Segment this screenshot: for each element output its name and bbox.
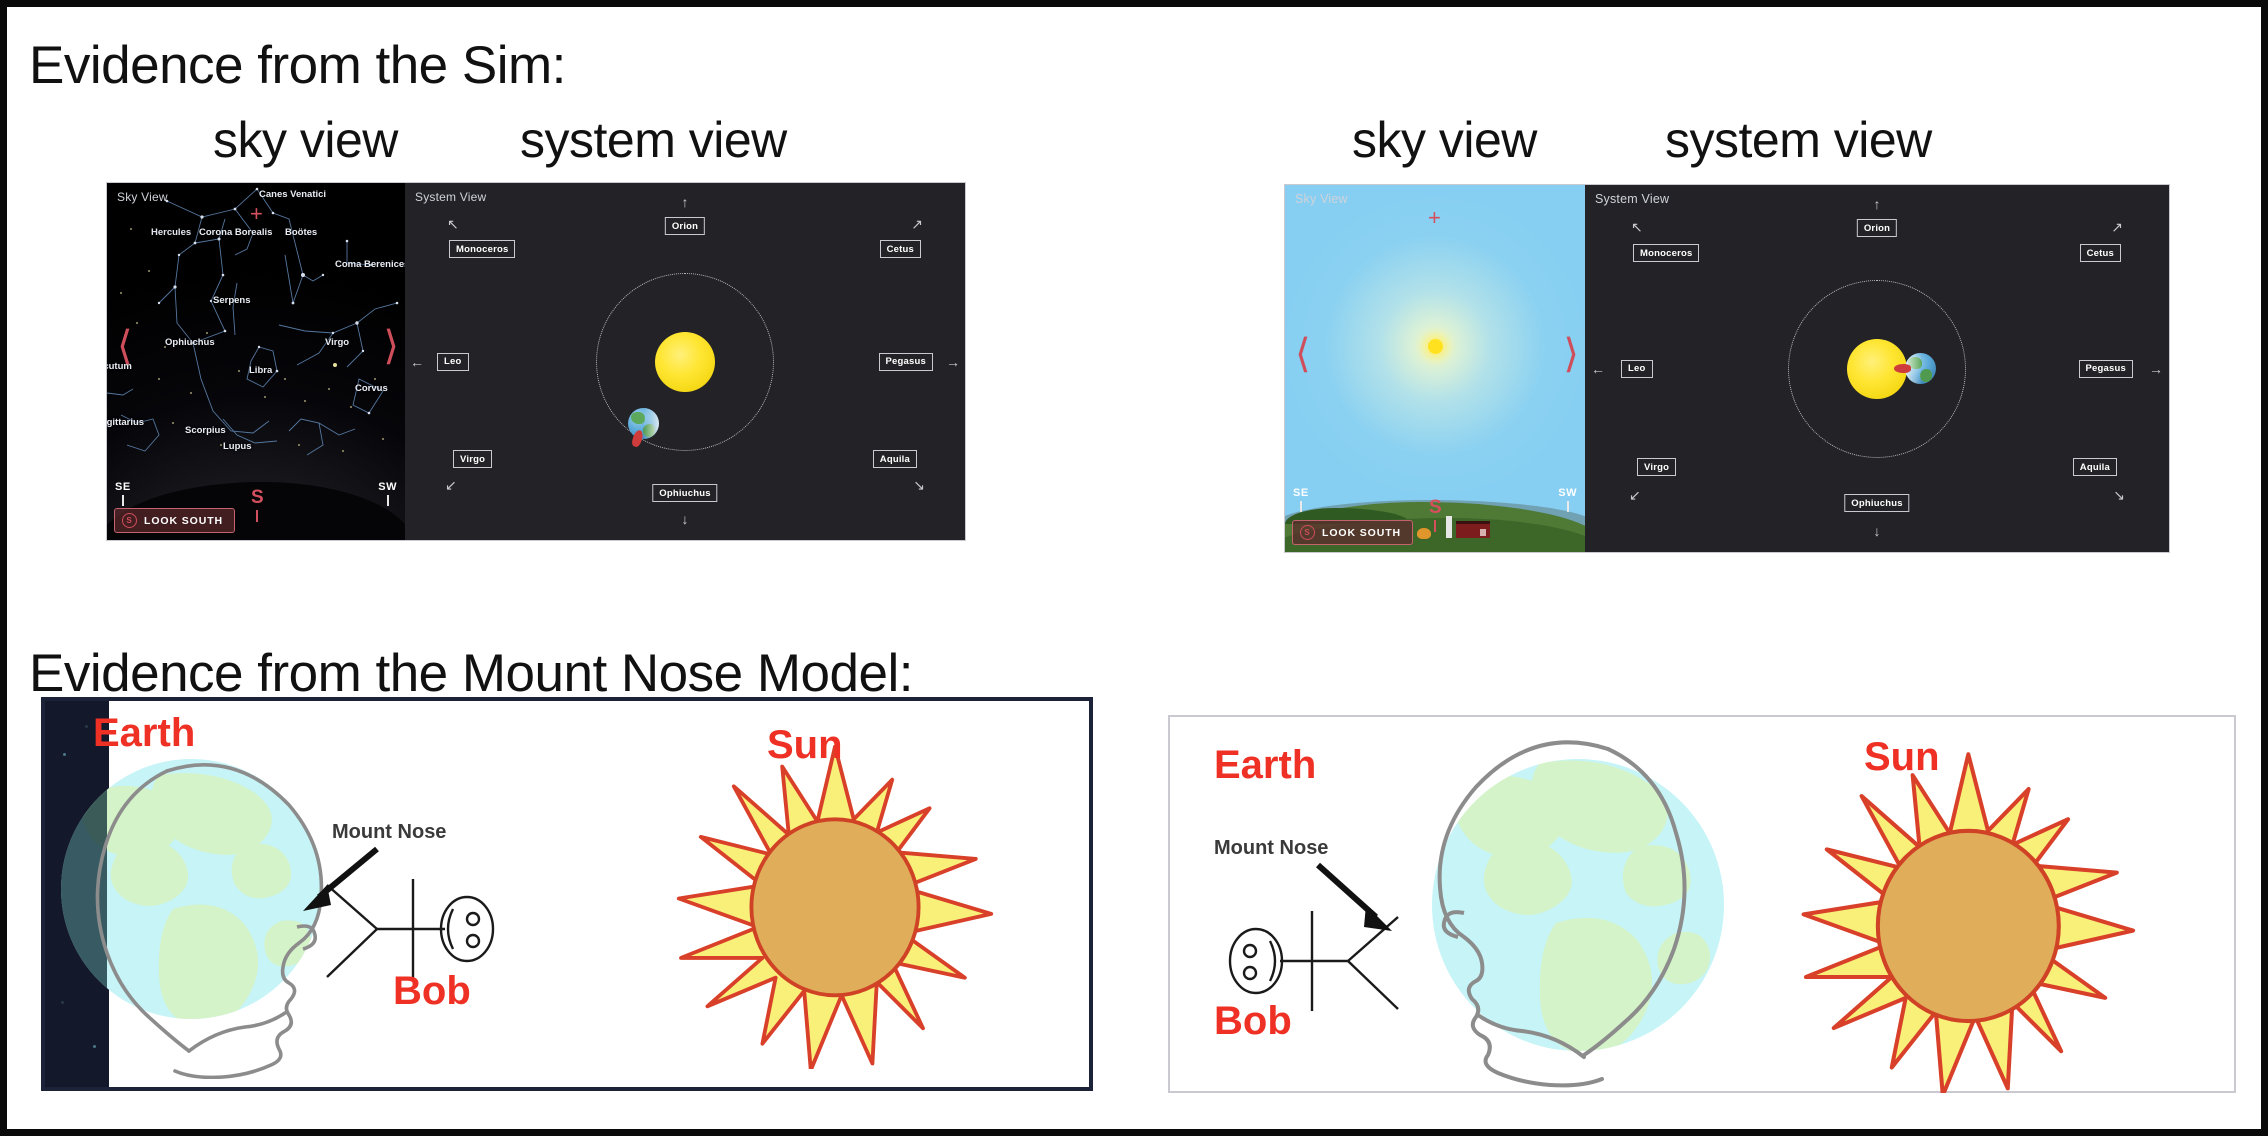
constellation-label: Sagittarius xyxy=(107,417,144,428)
south-marker: S xyxy=(251,487,264,522)
constellation-label: Coma Berenices xyxy=(335,259,405,270)
earth-marker xyxy=(628,408,659,439)
south-marker: S xyxy=(1429,497,1442,532)
look-south-button[interactable]: S LOOK SOUTH xyxy=(1292,520,1413,545)
arrow-up-left-icon: ↖ xyxy=(1631,220,1643,234)
view-label-system-right: system view xyxy=(1665,111,1932,169)
arrow-down-icon: ↓ xyxy=(1874,524,1881,538)
zodiac-label-aquila: Aquila xyxy=(873,450,917,468)
system-view-pane-left[interactable]: System View Orion ↑ Monoceros ↖ Cetus ↗ … xyxy=(405,183,965,540)
earth-label-right: Earth xyxy=(1214,743,1316,788)
view-label-system-left: system view xyxy=(520,111,787,169)
sun-label-left: Sun xyxy=(767,723,843,768)
mount-nose-note-left: Mount Nose xyxy=(332,821,446,844)
mount-nose-model-left: Earth Mou xyxy=(41,697,1093,1091)
zodiac-label-orion: Orion xyxy=(1857,219,1897,237)
look-south-label: LOOK SOUTH xyxy=(1322,527,1401,539)
pane-title-system-right: System View xyxy=(1595,192,1669,206)
arrow-up-right-icon: ↗ xyxy=(2111,220,2123,234)
bob-label-right: Bob xyxy=(1214,999,1292,1044)
constellation-label: Hercules xyxy=(151,227,191,238)
compass-se-label: SE xyxy=(115,481,131,506)
mount-nose-note-right: Mount Nose xyxy=(1214,837,1328,860)
zodiac-label-orion: Orion xyxy=(665,217,705,235)
zodiac-label-monoceros: Monoceros xyxy=(1633,244,1699,262)
constellation-label: Corvus xyxy=(355,383,388,394)
zodiac-label-aquila: Aquila xyxy=(2073,458,2117,476)
constellation-label: Ophiuchus xyxy=(165,337,215,348)
arrow-left-icon: ← xyxy=(1591,362,1605,376)
look-south-badge-icon: S xyxy=(122,513,137,528)
system-view-pane-right[interactable]: System View Orion ↑ Monoceros ↖ Cetus ↗ … xyxy=(1585,185,2169,552)
mount-nose-arrow-left xyxy=(293,841,393,921)
constellation-label: Lupus xyxy=(223,441,252,452)
pan-right-chevron-icon[interactable]: ⟩ xyxy=(383,323,399,369)
sun-illustration-right xyxy=(1786,745,2146,1093)
constellation-label: Canes Venatici xyxy=(259,189,326,200)
constellation-label: Virgo xyxy=(325,337,349,348)
earth-label-left: Earth xyxy=(93,711,195,756)
crosshair-icon: + xyxy=(1428,207,1441,229)
arrow-up-right-icon: ↗ xyxy=(911,217,923,231)
sim-screenshot-right: Sky View + ⟨ ⟩ SE SW S S xyxy=(1285,185,2169,552)
crosshair-icon: + xyxy=(250,203,263,225)
pan-right-chevron-icon[interactable]: ⟩ xyxy=(1563,331,1579,377)
constellation-label: Libra xyxy=(249,365,272,376)
compass-sw-label: SW xyxy=(378,481,397,506)
arrow-up-left-icon: ↖ xyxy=(447,217,459,231)
pan-left-chevron-icon[interactable]: ⟨ xyxy=(117,323,133,369)
arrow-down-icon: ↓ xyxy=(682,512,689,526)
zodiac-label-virgo: Virgo xyxy=(453,450,492,468)
sky-view-pane-day[interactable]: Sky View + ⟨ ⟩ SE SW S S xyxy=(1285,185,1585,552)
section-title-model: Evidence from the Mount Nose Model: xyxy=(29,643,913,704)
constellation-label: Serpens xyxy=(213,295,251,306)
sim-screenshot-left: Sky View xyxy=(107,183,965,540)
pane-title-sky-left: Sky View xyxy=(117,190,168,204)
sky-view-pane-night[interactable]: Sky View xyxy=(107,183,405,540)
arrow-up-icon: ↑ xyxy=(682,195,689,209)
zodiac-label-pegasus: Pegasus xyxy=(2079,360,2133,378)
look-south-badge-icon: S xyxy=(1300,525,1315,540)
sun-illustration-left xyxy=(665,739,1005,1069)
zodiac-label-pegasus: Pegasus xyxy=(879,353,933,371)
mount-nose-model-right: Earth Mount Nose Bob xyxy=(1168,715,2236,1093)
mount-nose-marker xyxy=(1894,364,1911,373)
constellation-label: Scorpius xyxy=(185,425,226,436)
pan-left-chevron-icon[interactable]: ⟨ xyxy=(1295,331,1311,377)
arrow-up-icon: ↑ xyxy=(1874,197,1881,211)
section-title-sim: Evidence from the Sim: xyxy=(29,35,566,96)
look-south-label: LOOK SOUTH xyxy=(144,515,223,527)
constellation-label: Corona Borealis xyxy=(199,227,272,238)
arrow-left-icon: ← xyxy=(410,355,424,369)
look-south-button[interactable]: S LOOK SOUTH xyxy=(114,508,235,533)
bob-label-left: Bob xyxy=(393,969,471,1014)
zodiac-label-virgo: Virgo xyxy=(1637,458,1676,476)
arrow-down-left-icon: ↙ xyxy=(445,478,457,492)
slide-canvas: Evidence from the Sim: sky view system v… xyxy=(0,0,2268,1136)
view-label-sky-left: sky view xyxy=(213,111,398,169)
barn-icon xyxy=(1456,521,1490,538)
arrow-down-right-icon: ↘ xyxy=(2113,488,2125,502)
constellation-label: Boötes xyxy=(285,227,317,238)
arrow-down-left-icon: ↙ xyxy=(1629,488,1641,502)
zodiac-label-cetus: Cetus xyxy=(880,240,921,258)
arrow-down-right-icon: ↘ xyxy=(913,478,925,492)
compass-se-label: SE xyxy=(1293,487,1309,512)
arrow-right-icon: → xyxy=(946,355,960,369)
zodiac-label-leo: Leo xyxy=(1621,360,1653,378)
sun-label-right: Sun xyxy=(1864,735,1940,780)
zodiac-label-leo: Leo xyxy=(437,353,469,371)
zodiac-label-ophiuchus: Ophiuchus xyxy=(1844,494,1909,512)
pane-title-sky-right: Sky View xyxy=(1295,192,1348,206)
view-label-sky-right: sky view xyxy=(1352,111,1537,169)
mount-nose-arrow-right xyxy=(1300,857,1410,947)
pane-title-system-left: System View xyxy=(415,190,486,204)
zodiac-label-ophiuchus: Ophiuchus xyxy=(652,484,717,502)
arrow-right-icon: → xyxy=(2149,362,2163,376)
zodiac-label-cetus: Cetus xyxy=(2080,244,2121,262)
compass-sw-label: SW xyxy=(1558,487,1577,512)
zodiac-label-monoceros: Monoceros xyxy=(449,240,515,258)
sun-marker xyxy=(655,332,715,392)
